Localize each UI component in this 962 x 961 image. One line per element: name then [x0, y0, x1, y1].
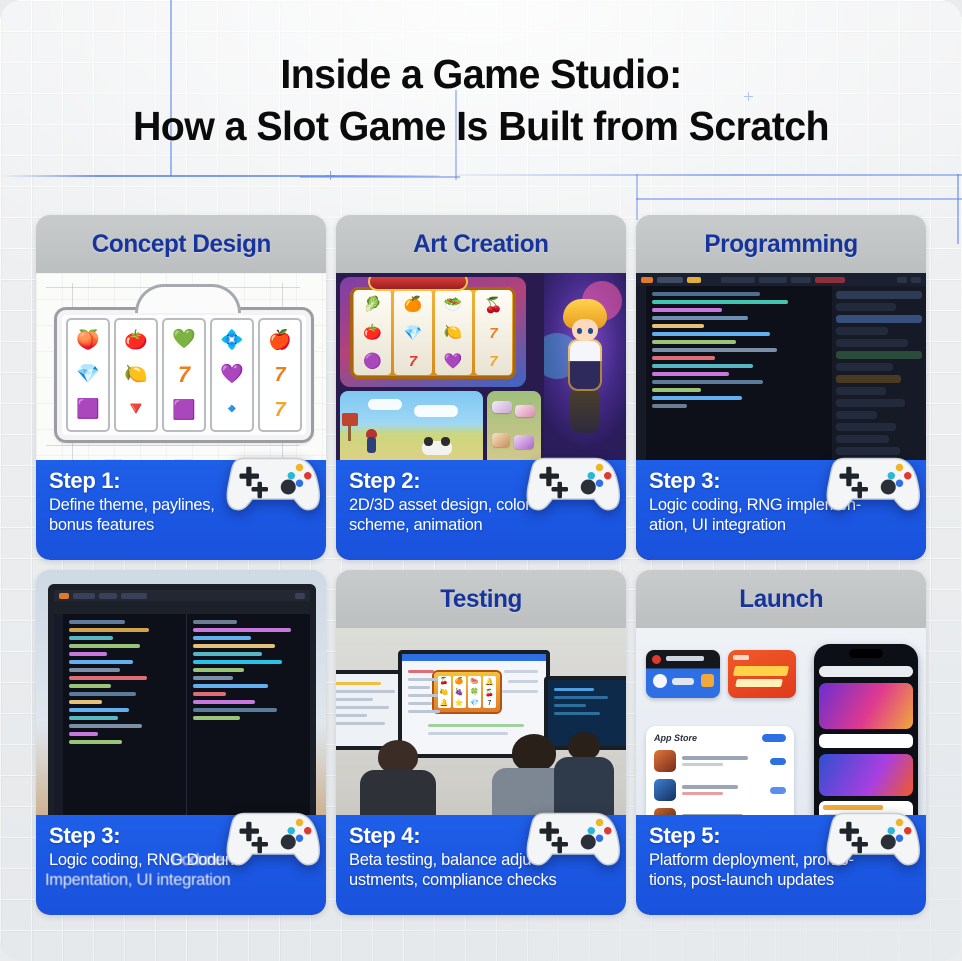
card-header-band: Concept Design	[36, 215, 326, 273]
card-header-band: Launch	[636, 570, 926, 628]
game-controller-icon	[217, 795, 322, 871]
step-card-programming[interactable]: Programming	[636, 215, 926, 560]
step-card-launch[interactable]: Launch App Store	[636, 570, 926, 915]
card-header-title: Launch	[739, 585, 823, 614]
page-title-line-1: Inside a Game Studio:	[19, 48, 943, 100]
infographic-page: Inside a Game Studio: How a Slot Game Is…	[0, 0, 962, 961]
page-title: Inside a Game Studio: How a Slot Game Is…	[19, 48, 943, 153]
step-card-testing[interactable]: Testing	[336, 570, 626, 915]
card-header-band: Art Creation	[336, 215, 626, 273]
game-controller-icon	[217, 440, 322, 516]
accent-line-horizontal-right	[456, 174, 962, 176]
accent-line-horizontal-mid	[300, 176, 460, 178]
game-controller-icon	[517, 440, 622, 516]
card-header-band: Testing	[336, 570, 626, 628]
accent-line-horizontal-right-b	[636, 198, 962, 200]
game-controller-icon	[517, 795, 622, 871]
card-header-title: Concept Design	[91, 230, 270, 259]
steps-grid: Concept Design 🍑💎🟪 🍅🍋🔻 💚7🟪 💠💜🔹 🍎77	[36, 215, 926, 915]
card-header-title: Programming	[704, 230, 857, 259]
accent-line-vertical-right-a	[636, 174, 638, 220]
accent-line-vertical-right-b	[957, 174, 959, 244]
step-card-concept-design[interactable]: Concept Design 🍑💎🟪 🍅🍋🔻 💚7🟪 💠💜🔹 🍎77	[36, 215, 326, 560]
sparkle-icon	[326, 171, 335, 180]
step-description-line-2: Impentation, UI integration	[45, 870, 230, 890]
step-card-art-creation[interactable]: Art Creation 🥬🍅🟣 🍊💎7 🥗🍋💜 🍒77	[336, 215, 626, 560]
page-title-line-2: How a Slot Game Is Built from Scratch	[19, 100, 943, 152]
step-card-programming-desk[interactable]: Step 3: Logic coding, RNG Dodune- Dodune…	[36, 570, 326, 915]
game-controller-icon	[817, 795, 922, 871]
card-header-band: Programming	[636, 215, 926, 273]
card-header-title: Art Creation	[413, 230, 548, 259]
card-header-title: Testing	[440, 585, 522, 614]
game-controller-icon	[817, 440, 922, 516]
